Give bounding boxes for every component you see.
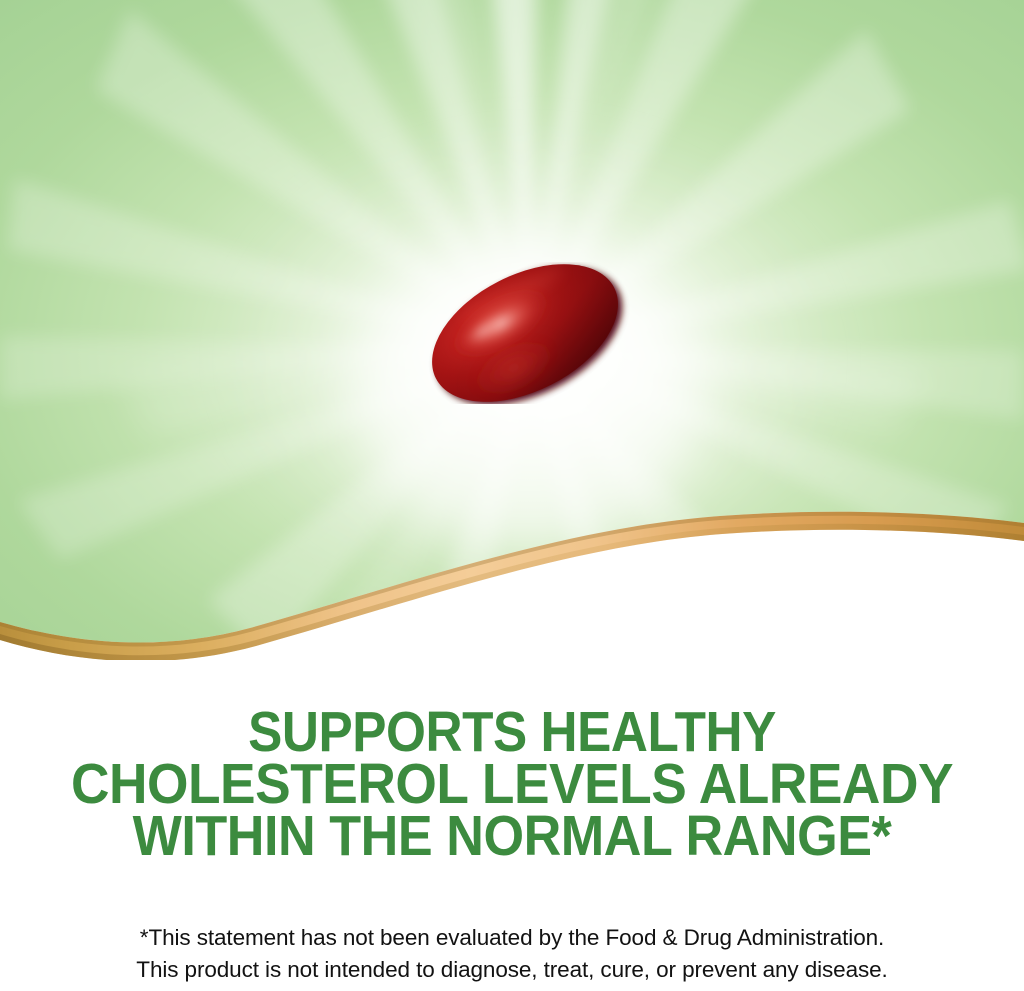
red-softgel-capsule — [420, 262, 630, 404]
product-marketing-image: SUPPORTS HEALTHY CHOLESTEROL LEVELS ALRE… — [0, 0, 1024, 991]
headline-line-3: WITHIN THE NORMAL RANGE* — [44, 810, 981, 862]
headline-block: SUPPORTS HEALTHY CHOLESTEROL LEVELS ALRE… — [0, 706, 1024, 862]
hero-panel — [0, 0, 1024, 660]
headline-line-1: SUPPORTS HEALTHY — [51, 706, 973, 758]
softgel-capsule-graphic — [420, 262, 630, 404]
disclaimer-line-2: This product is not intended to diagnose… — [0, 954, 1024, 986]
disclaimer-line-1: *This statement has not been evaluated b… — [0, 922, 1024, 954]
headline-line-2: CHOLESTEROL LEVELS ALREADY — [33, 758, 990, 810]
fda-disclaimer: *This statement has not been evaluated b… — [0, 922, 1024, 986]
